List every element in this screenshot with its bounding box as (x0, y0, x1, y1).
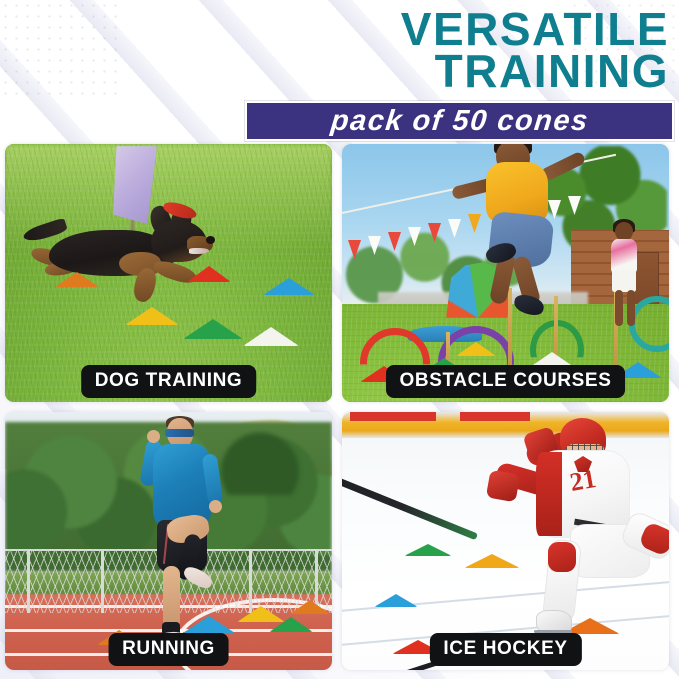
player-glove-lower (486, 470, 520, 503)
dachshund-dog (23, 206, 213, 311)
jersey-number: 21 (568, 464, 599, 498)
panel-caption-dog-training: DOG TRAINING (81, 365, 257, 398)
girl-leg-left (615, 290, 623, 326)
cone-yellow (125, 307, 179, 325)
pack-size-banner: pack of 50 cones (245, 101, 674, 141)
cone-green (269, 617, 313, 632)
feature-image-grid: DOG TRAINING (5, 144, 674, 675)
cone-red (187, 266, 231, 282)
pennant (388, 232, 401, 251)
scene-ice-hockey: 21 (342, 412, 669, 670)
runner-hand-down (209, 500, 222, 513)
title-line-1: VERSATILE (401, 8, 669, 50)
runner-standing-leg (163, 566, 180, 630)
panel-obstacle-courses[interactable]: OBSTACLE COURSES (342, 144, 669, 402)
cone-orange (55, 272, 99, 287)
runner-blue-shirt (153, 444, 211, 526)
jersey-red-stripe (536, 452, 562, 536)
runner-athlete (135, 416, 245, 642)
scene-dog-training (5, 144, 332, 402)
runner-hand-raised (147, 430, 160, 443)
cone-yellow (456, 342, 496, 356)
fence-post (27, 549, 30, 613)
pennant (428, 223, 441, 242)
scene-running (5, 412, 332, 670)
boy-shoe-back (512, 293, 545, 318)
player-sock-lead (548, 542, 576, 572)
cone-white (243, 327, 299, 346)
pack-size-banner-label: pack of 50 cones (329, 105, 590, 138)
panel-caption-obstacle-courses: OBSTACLE COURSES (386, 365, 626, 398)
panel-running[interactable]: RUNNING (5, 412, 332, 670)
cone-orange-far (290, 600, 330, 614)
poster-header: VERSATILE TRAINING pack of 50 cones (0, 0, 679, 143)
girl-watching (603, 222, 647, 332)
cone-green (183, 319, 243, 339)
pennant (368, 236, 381, 255)
fence-post (249, 549, 252, 613)
runner-shoe-raised (181, 564, 215, 591)
cone-blue (374, 594, 418, 607)
dog-mouth (189, 248, 209, 254)
poster-root: VERSATILE TRAINING pack of 50 cones (0, 0, 679, 679)
panel-ice-hockey[interactable]: 21 ICE HOCKEY (342, 412, 669, 670)
pennant (408, 227, 421, 246)
hockey-player: 21 (474, 414, 669, 644)
girl-leg-right (627, 290, 635, 326)
girl-top (611, 239, 637, 273)
dog-nose (206, 236, 215, 244)
girl-shorts (612, 270, 636, 292)
page-title: VERSATILE TRAINING (401, 8, 669, 93)
panel-caption-running: RUNNING (108, 633, 229, 666)
scene-obstacle-courses (342, 144, 669, 402)
cone-blue (263, 278, 315, 295)
runner-sunglasses (165, 429, 194, 437)
cone-green (404, 544, 452, 556)
boards-red-accent-1 (350, 412, 436, 421)
title-line-2: TRAINING (401, 50, 669, 92)
boy-jumping (448, 144, 584, 340)
fence-post (101, 549, 104, 613)
panel-dog-training[interactable]: DOG TRAINING (5, 144, 332, 402)
panel-caption-ice-hockey: ICE HOCKEY (429, 633, 581, 666)
